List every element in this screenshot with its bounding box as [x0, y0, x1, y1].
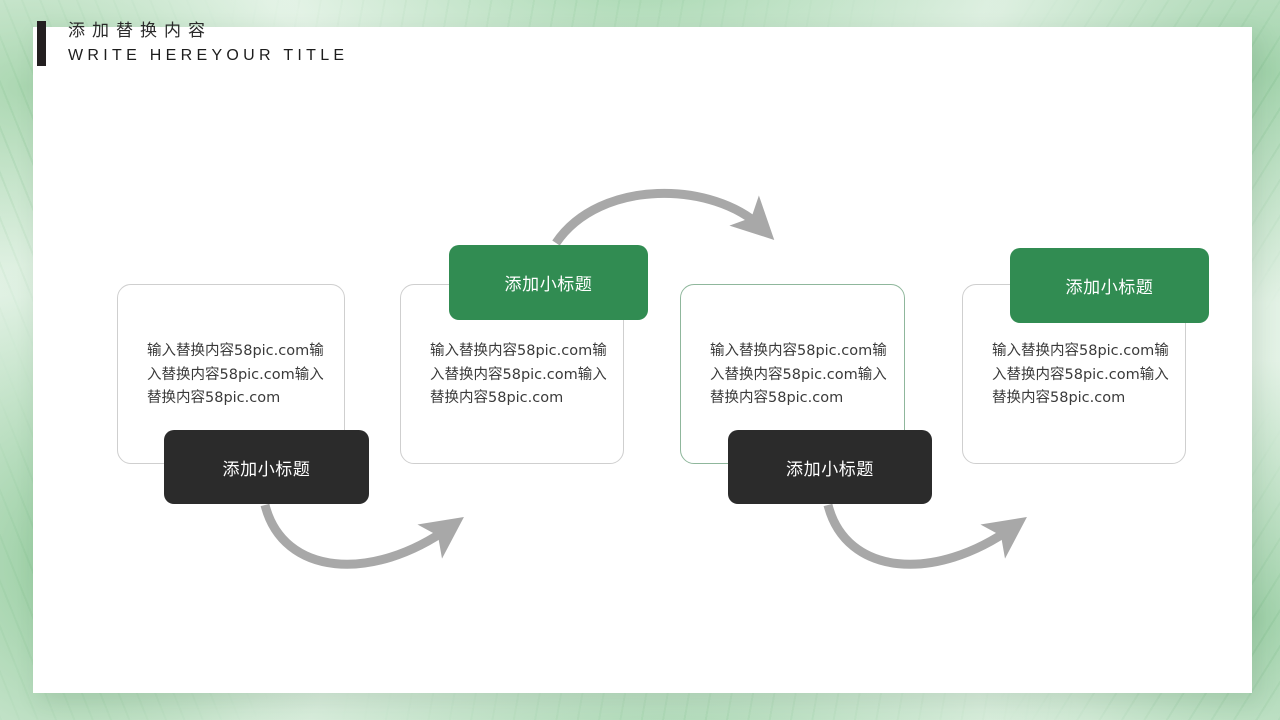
connector-arrow-1: [265, 505, 450, 564]
step-label-text-4: 添加小标题: [1066, 273, 1154, 298]
step-label-text-1: 添加小标题: [223, 455, 311, 480]
step-label-1[interactable]: 添加小标题: [164, 430, 369, 504]
step-label-4[interactable]: 添加小标题: [1010, 248, 1209, 323]
step-label-text-3: 添加小标题: [786, 455, 874, 480]
step-body-text-1: 输入替换内容58pic.com输入替换内容58pic.com输入替换内容58pi…: [147, 340, 327, 411]
step-label-text-2: 添加小标题: [505, 270, 593, 295]
connector-arrow-3: [828, 505, 1013, 564]
step-label-3[interactable]: 添加小标题: [728, 430, 932, 504]
connector-arrow-2: [556, 193, 762, 243]
step-body-text-3: 输入替换内容58pic.com输入替换内容58pic.com输入替换内容58pi…: [710, 340, 890, 411]
step-label-2[interactable]: 添加小标题: [449, 245, 648, 320]
step-body-text-4: 输入替换内容58pic.com输入替换内容58pic.com输入替换内容58pi…: [992, 340, 1172, 411]
step-body-text-2: 输入替换内容58pic.com输入替换内容58pic.com输入替换内容58pi…: [430, 340, 610, 411]
slide-canvas: 添加替换内容 WRITE HEREYOUR TITLE 输入替换内容58pic.…: [0, 0, 1280, 720]
process-diagram: 输入替换内容58pic.com输入替换内容58pic.com输入替换内容58pi…: [0, 0, 1280, 720]
